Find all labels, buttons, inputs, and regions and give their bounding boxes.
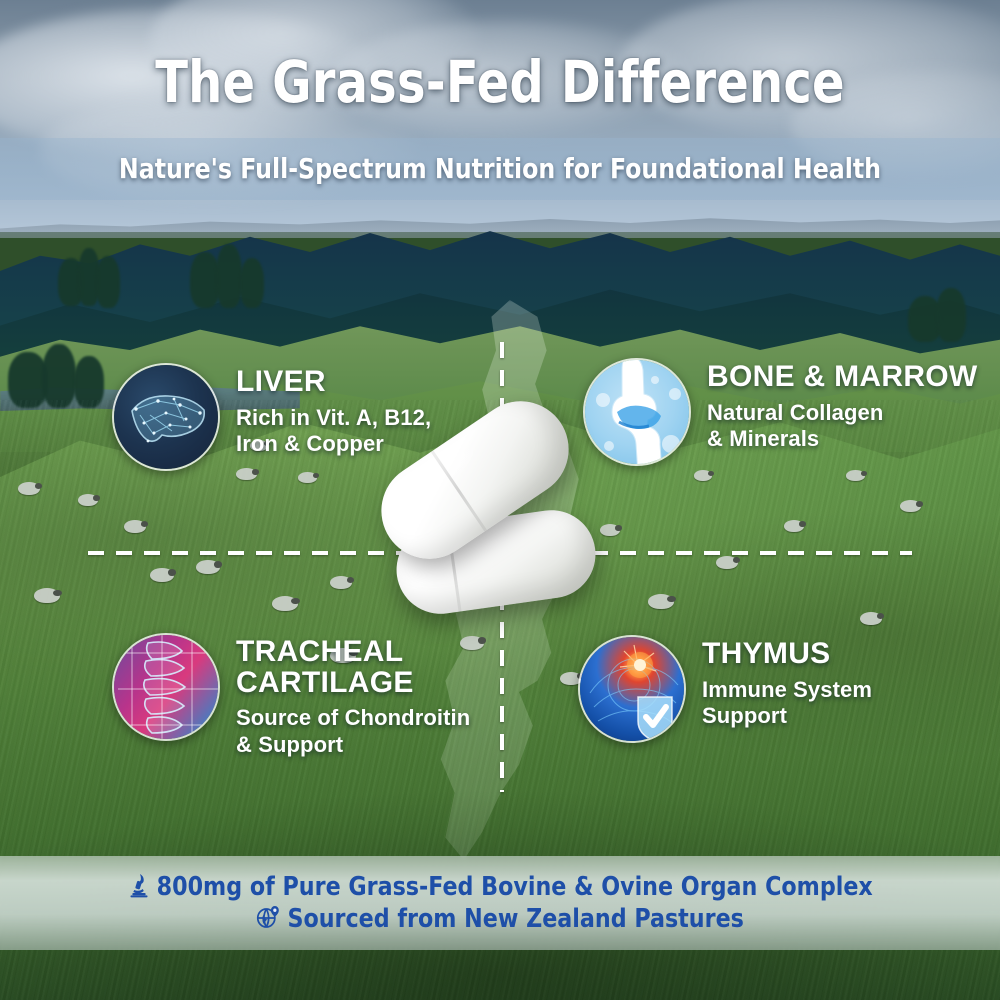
tree-clump [96, 256, 120, 308]
banner-line-2: Sourced from New Zealand Pastures [25, 904, 975, 937]
sheep [124, 520, 146, 533]
liver-wireframe-icon [112, 363, 220, 471]
feature-desc-line: Rich in Vit. A, B12, [236, 405, 431, 432]
sheep [900, 500, 921, 512]
feature-title: THYMUS [702, 639, 872, 670]
globe-pin-icon [256, 904, 281, 937]
sheep [196, 560, 220, 574]
trachea-xray-icon [112, 633, 220, 741]
sheep [34, 588, 60, 603]
page-title: The Grass-Fed Difference [40, 52, 960, 113]
page-subtitle: Nature's Full-Spectrum Nutrition for Fou… [30, 152, 970, 185]
feature-desc-line: Immune System [702, 677, 872, 704]
tree-clump [240, 258, 264, 308]
feature-desc-line: Source of Chondroitin [236, 705, 470, 732]
feature-desc-line: & Minerals [707, 426, 978, 453]
sheep [846, 470, 865, 481]
sheep [150, 568, 174, 582]
feature-description: Immune System Support [702, 677, 872, 731]
sheep [18, 482, 40, 495]
feature-description: Natural Collagen & Minerals [707, 400, 978, 454]
feature-desc-line: Support [702, 703, 872, 730]
feature-title: LIVER [236, 367, 431, 398]
header-title-wrap: The Grass-Fed Difference [0, 52, 1000, 113]
feature-title: BONE & MARROW [707, 362, 978, 393]
banner-line-2-text: Sourced from New Zealand Pastures [287, 904, 743, 934]
infographic-canvas: The Grass-Fed Difference Nature's Full-S… [0, 0, 1000, 1000]
sheep [78, 494, 98, 506]
sheep [694, 470, 712, 481]
banner-line-1-text: 800mg of Pure Grass-Fed Bovine & Ovine O… [157, 872, 873, 902]
feature-desc-line: & Support [236, 732, 470, 759]
feature-desc-line: Natural Collagen [707, 400, 978, 427]
sheep [784, 520, 804, 532]
feature-title-line: TRACHEAL [236, 635, 403, 668]
feature-description: Source of Chondroitin & Support [236, 705, 470, 759]
banner-line-1: 800mg of Pure Grass-Fed Bovine & Ovine O… [25, 872, 975, 905]
feature-title-line: CARTILAGE [236, 666, 414, 699]
sheep [330, 576, 352, 589]
feature-tracheal-cartilage[interactable]: TRACHEAL CARTILAGE Source of Chondroitin… [112, 633, 470, 759]
microscope-icon [127, 872, 150, 905]
product-capsules [352, 430, 652, 630]
sheep [860, 612, 882, 625]
feature-title: TRACHEAL CARTILAGE [236, 637, 470, 698]
tree-clump [216, 244, 242, 308]
feature-thymus[interactable]: THYMUS Immune System Support [578, 635, 872, 743]
immune-shield-icon [578, 635, 686, 743]
sheep [716, 556, 738, 569]
sheep [298, 472, 317, 483]
sheep [272, 596, 298, 611]
tree-clump [936, 288, 966, 342]
